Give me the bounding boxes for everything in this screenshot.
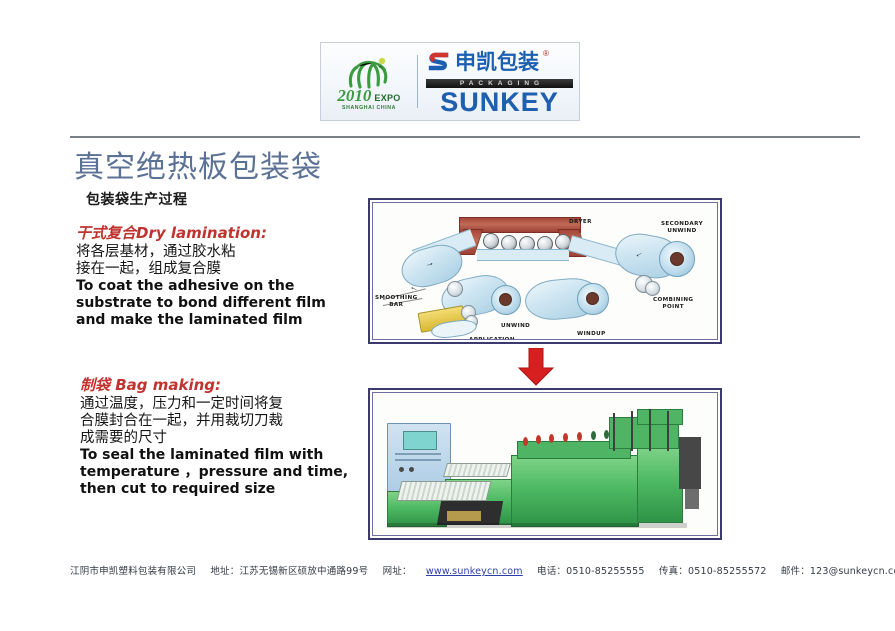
footer-phone: 电话：0510-85255555: [537, 566, 645, 577]
dry-lamination-en-line-2: substrate to bond different film: [76, 295, 326, 312]
company-logo-banner: 2010 EXPO SHANGHAI CHINA 申凯包装 ® PACKAGIN…: [320, 42, 580, 121]
bag-making-cn-line-2: 合膜封合在一起，并用裁切刀裁: [80, 413, 348, 430]
diagram-label-unwind: UNWIND: [501, 323, 530, 330]
dry-lamination-text-block: 干式复合Dry lamination: 将各层基材，通过胶水粘 接在一起，组成复…: [76, 222, 326, 329]
footer-contact-bar: 江阴市申凯塑料包装有限公司 地址：江苏无锡新区硕放中通路99号 网址： www.…: [70, 563, 860, 577]
registered-trademark-icon: ®: [543, 49, 549, 58]
expo-word: EXPO: [374, 93, 400, 103]
expo-emblem-icon: [341, 55, 397, 89]
diagram-label-dryer: DRYER: [569, 219, 592, 226]
bag-making-heading: 制袋 Bag making:: [80, 374, 348, 395]
dry-lamination-heading: 干式复合Dry lamination:: [76, 222, 326, 243]
dry-lamination-en-line-1: To coat the adhesive on the: [76, 278, 326, 295]
brand-english-name: SUNKEY: [426, 89, 573, 116]
diagram-label-application: APPLICATION: [469, 337, 515, 340]
bag-making-text-block: 制袋 Bag making: 通过温度，压力和一定时间将复 合膜封合在一起，并用…: [80, 374, 348, 498]
packaging-text: PACKAGING: [455, 80, 544, 87]
footer-address: 地址：江苏无锡新区硕放中通路99号: [210, 566, 368, 577]
footer-website-label: 网址：: [383, 566, 412, 577]
bag-making-en-line-1: To seal the laminated film with: [80, 447, 348, 464]
brand-chinese-name: 申凯包装: [455, 52, 539, 73]
diagram-label-windup: WINDUP: [577, 331, 606, 338]
process-down-arrow-icon: [516, 348, 556, 386]
expo-2010-logo: 2010 EXPO SHANGHAI CHINA: [321, 43, 417, 120]
bag-making-en-line-2: temperature ，pressure and time,: [80, 464, 348, 481]
footer-email: 邮件：123@sunkeycn.com: [781, 566, 895, 577]
dry-lamination-cn-line-1: 将各层基材，通过胶水粘: [76, 244, 326, 261]
expo-year: 2010: [337, 87, 371, 104]
bag-making-cn-line-3: 成需要的尺寸: [80, 430, 348, 447]
sunkey-s-mark-icon: [426, 50, 451, 75]
diagram-label-combining-point: COMBINING POINT: [653, 297, 693, 311]
bag-making-machine-image: [368, 388, 722, 540]
bag-making-en-line-3: then cut to required size: [80, 481, 348, 498]
dry-lamination-cn-line-2: 接在一起，组成复合膜: [76, 261, 326, 278]
expo-city: SHANGHAI CHINA: [342, 105, 396, 111]
bag-making-cn-line-1: 通过温度，压力和一定时间将复: [80, 396, 348, 413]
sunkey-logo: 申凯包装 ® PACKAGING SUNKEY: [418, 43, 579, 120]
slide-canvas: 2010 EXPO SHANGHAI CHINA 申凯包装 ® PACKAGIN…: [0, 0, 895, 631]
title-divider-rule: [70, 136, 860, 138]
flow-arrow-icon: →: [408, 284, 420, 296]
dry-lamination-diagram-image: → → → DRYER SECONDARY UNWIND SMOOTHING B…: [368, 198, 722, 344]
diagram-label-secondary-unwind: SECONDARY UNWIND: [661, 221, 703, 235]
footer-website-link[interactable]: www.sunkeycn.com: [426, 566, 523, 577]
page-subtitle: 包装袋生产过程: [86, 189, 188, 209]
dry-lamination-en-line-3: and make the laminated film: [76, 312, 326, 329]
footer-fax: 传真：0510-85255572: [659, 566, 767, 577]
diagram-label-smoothing-bar: SMOOTHING BAR: [375, 295, 418, 309]
footer-company: 江阴市申凯塑料包装有限公司: [70, 566, 196, 577]
page-title: 真空绝热板包装袋: [74, 142, 322, 186]
